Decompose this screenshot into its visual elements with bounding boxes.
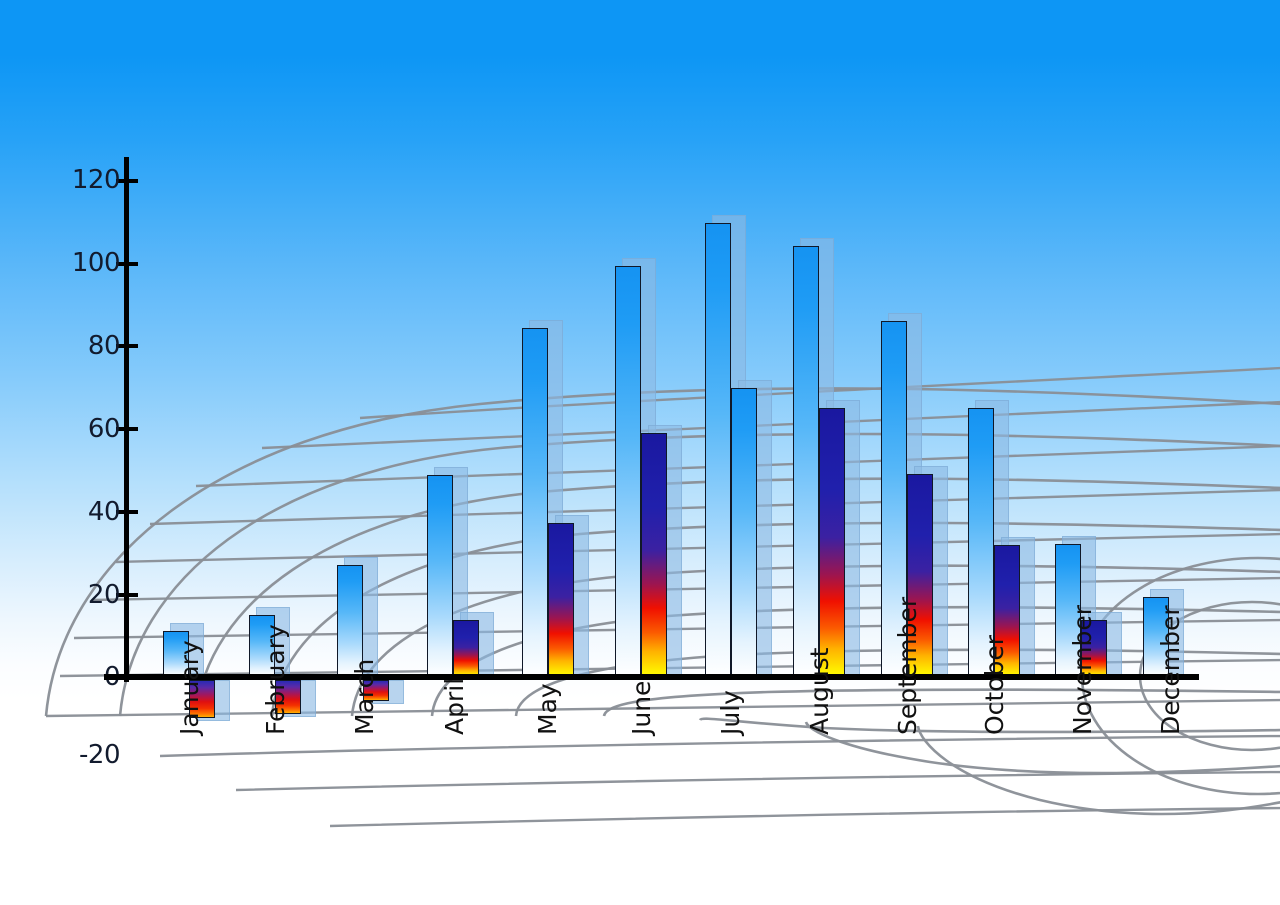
x-axis-label-december: December [1156,605,1185,735]
x-axis-label-august: August [805,648,834,736]
bar-may-blue[interactable] [522,328,548,677]
bar-face [819,408,845,677]
y-axis-label-120: 120 [50,165,120,195]
y-axis-label-80: 80 [50,331,120,361]
bar-april-blue[interactable] [427,475,453,677]
x-axis-label-february: February [261,624,290,735]
x-axis-label-march: March [350,659,379,735]
bar-june-blue[interactable] [615,266,641,677]
bar-august-hot[interactable] [819,408,845,677]
x-axis-label-october: October [980,635,1009,735]
bar-april-hot[interactable] [453,620,479,677]
bar-face [641,433,667,677]
y-axis-label-20: 20 [50,580,120,610]
x-axis-label-june: June [627,681,656,735]
bar-face [427,475,453,677]
y-axis-label-100: 100 [50,248,120,278]
chart-canvas: 120 100 80 60 40 20 0 -20 [0,0,1280,905]
bar-face [731,388,757,677]
y-axis-label-40: 40 [50,497,120,527]
bar-july-blue[interactable] [705,223,731,677]
y-axis-line [124,157,129,682]
bar-may-hot[interactable] [548,523,574,677]
x-axis-label-september: September [893,597,922,735]
x-axis-label-january: January [175,640,204,735]
bar-face [793,246,819,677]
x-axis-label-november: November [1068,605,1097,735]
bar-june-hot[interactable] [641,433,667,677]
y-axis-label-60: 60 [50,414,120,444]
bar-july-hot[interactable] [731,388,757,677]
x-axis-label-may: May [533,683,562,735]
x-axis-label-july: July [716,690,745,735]
bar-face [453,620,479,677]
bar-face [705,223,731,677]
bar-face [615,266,641,677]
bar-august-blue[interactable] [793,246,819,677]
plot-area: 120 100 80 60 40 20 0 -20 [0,0,1280,905]
x-axis-label-april: April [440,678,469,735]
bar-face [522,328,548,677]
bar-face [548,523,574,677]
y-axis-label--20: -20 [50,740,120,770]
